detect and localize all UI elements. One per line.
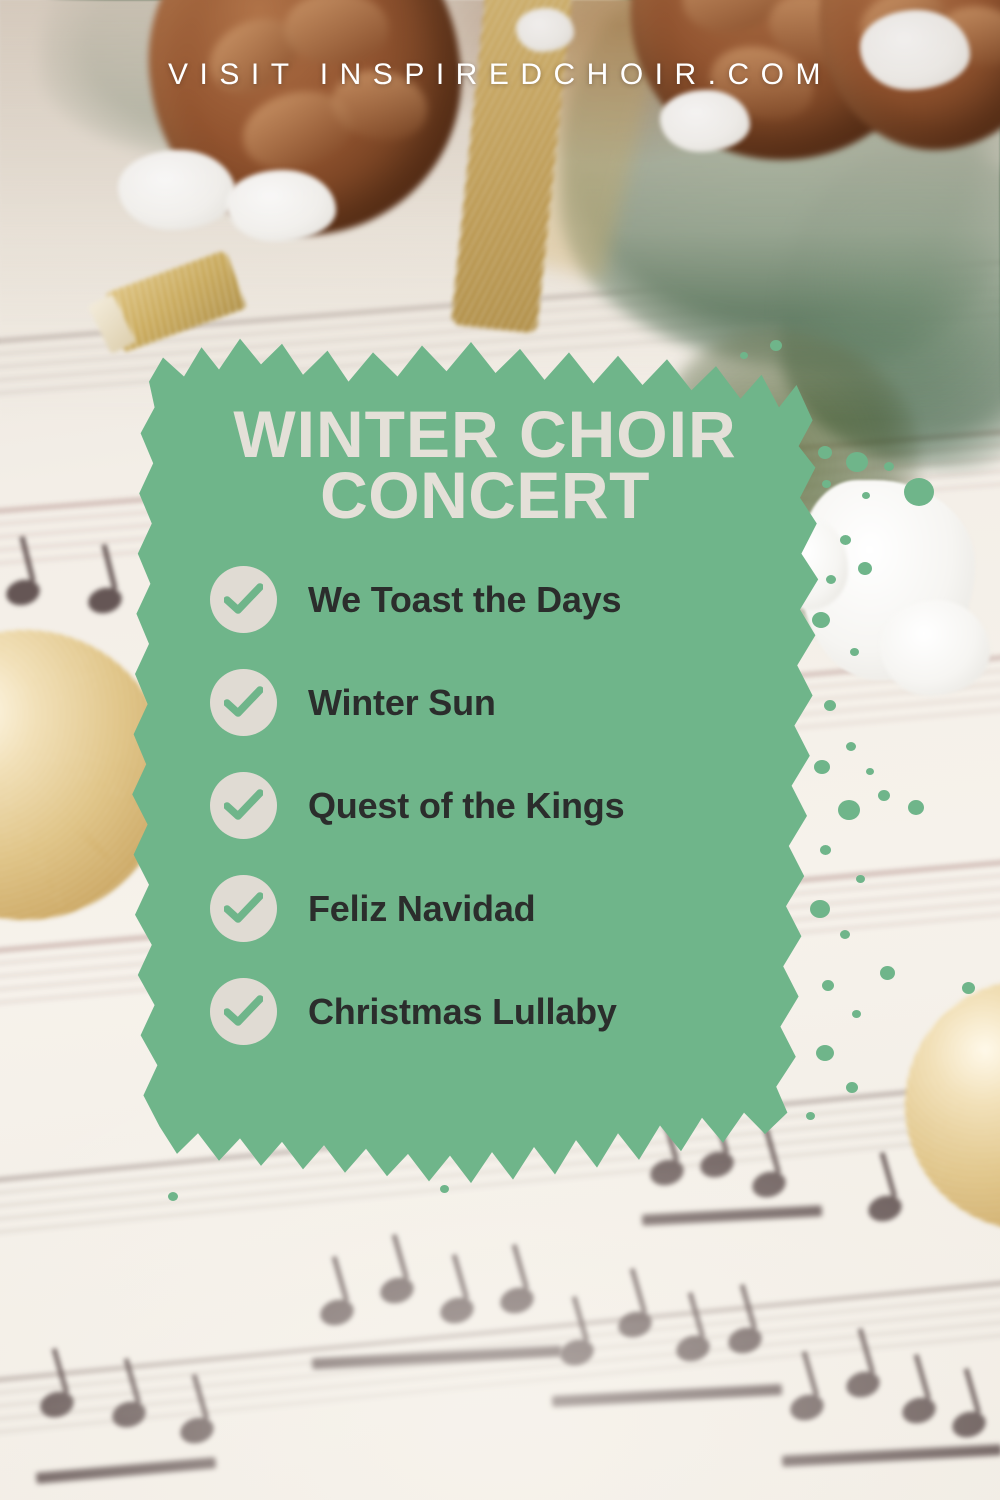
- song-title: Feliz Navidad: [308, 888, 535, 930]
- poster-content: VISIT INSPIREDCHOIR.COM WINTER CHOIR CON…: [0, 0, 1000, 1500]
- song-list: We Toast the Days Winter Sun Quest of th…: [210, 566, 830, 1081]
- check-circle-icon: [210, 566, 277, 633]
- list-item[interactable]: Quest of the Kings: [210, 772, 830, 839]
- check-circle-icon: [210, 978, 277, 1045]
- list-item[interactable]: Winter Sun: [210, 669, 830, 736]
- visit-url-banner[interactable]: VISIT INSPIREDCHOIR.COM: [0, 58, 1000, 92]
- title-line-2: CONCERT: [155, 465, 815, 526]
- page-title: WINTER CHOIR CONCERT: [155, 404, 815, 525]
- song-title: Winter Sun: [308, 682, 496, 724]
- list-item[interactable]: Feliz Navidad: [210, 875, 830, 942]
- title-line-1: WINTER CHOIR: [155, 404, 815, 465]
- check-circle-icon: [210, 875, 277, 942]
- song-title: Quest of the Kings: [308, 785, 624, 827]
- check-circle-icon: [210, 772, 277, 839]
- song-title: Christmas Lullaby: [308, 991, 617, 1033]
- poster-canvas: VISIT INSPIREDCHOIR.COM WINTER CHOIR CON…: [0, 0, 1000, 1500]
- song-title: We Toast the Days: [308, 579, 621, 621]
- check-circle-icon: [210, 669, 277, 736]
- list-item[interactable]: We Toast the Days: [210, 566, 830, 633]
- list-item[interactable]: Christmas Lullaby: [210, 978, 830, 1045]
